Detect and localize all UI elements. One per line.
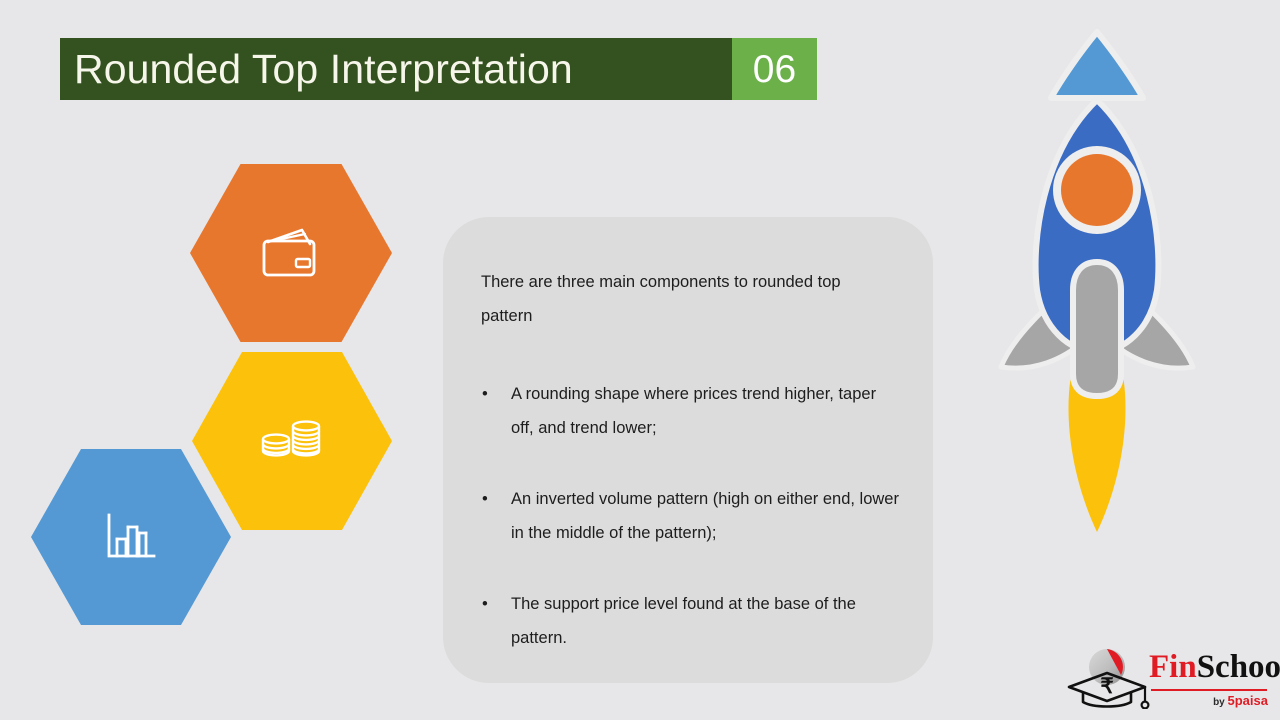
rocket-engine: [1073, 262, 1121, 396]
rocket-porthole: [1061, 154, 1133, 226]
content-panel: There are three main components to round…: [443, 217, 933, 683]
coins-icon: [260, 413, 324, 469]
wallet-icon: [258, 225, 324, 281]
slide-title-bar: Rounded Top Interpretation 06: [60, 38, 817, 100]
list-item: • A rounding shape where prices trend hi…: [481, 377, 903, 445]
list-item-text: An inverted volume pattern (high on eith…: [511, 490, 899, 542]
rocket-illustration: [985, 22, 1210, 542]
logo-by-text: by: [1213, 697, 1227, 708]
finschool-logo: ₹ FinSchool by 5paisa: [1063, 645, 1268, 713]
bullet-marker: •: [482, 482, 488, 516]
logo-brand-text: 5paisa: [1228, 693, 1268, 708]
slide-canvas: Rounded Top Interpretation 06: [0, 0, 1280, 720]
rocket-nose-cone: [1051, 32, 1143, 98]
bullet-marker: •: [482, 377, 488, 411]
bullet-list: • A rounding shape where prices trend hi…: [481, 377, 903, 655]
hexagon-bar-chart: [31, 449, 231, 625]
bar-chart-icon: [102, 509, 160, 565]
list-item-text: A rounding shape where prices trend high…: [511, 385, 876, 437]
slide-number: 06: [753, 50, 796, 89]
hexagon-wallet: [190, 164, 392, 342]
title-block: Rounded Top Interpretation: [60, 38, 732, 100]
page-title: Rounded Top Interpretation: [74, 49, 573, 90]
list-item: • The support price level found at the b…: [481, 587, 903, 655]
graduation-cap-rupee-icon: ₹: [1063, 647, 1151, 709]
logo-school-text: School: [1197, 649, 1280, 685]
logo-wordmark: FinSchool: [1149, 651, 1280, 684]
list-item-text: The support price level found at the bas…: [511, 595, 856, 647]
logo-fin-text: Fin: [1149, 649, 1197, 685]
svg-text:₹: ₹: [1100, 674, 1113, 698]
rocket-icon: [985, 22, 1210, 542]
list-item: • An inverted volume pattern (high on ei…: [481, 482, 903, 550]
hexagon-coins: [192, 352, 392, 530]
panel-lead-text: There are three main components to round…: [481, 265, 893, 333]
logo-underline: [1151, 689, 1267, 691]
logo-tagline: by 5paisa: [1213, 692, 1268, 710]
bullet-marker: •: [482, 587, 488, 621]
slide-number-badge: 06: [732, 38, 817, 100]
